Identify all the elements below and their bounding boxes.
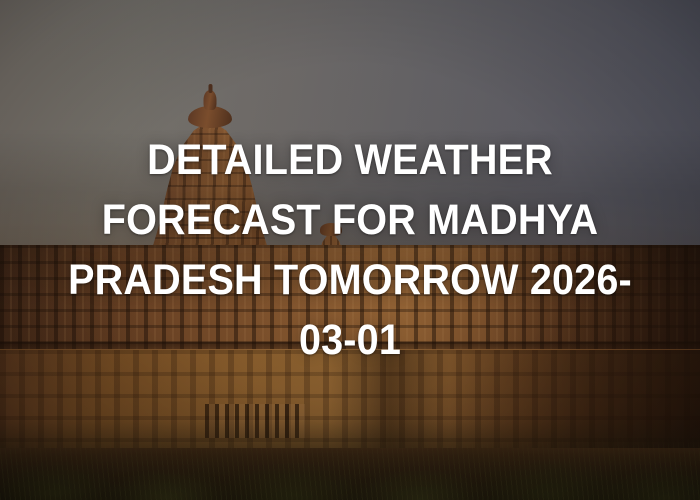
spire-finial <box>320 223 342 236</box>
foreground-grass <box>0 434 700 500</box>
temple-wall-shadow <box>490 245 700 350</box>
shikhara-finial <box>188 106 232 128</box>
weather-forecast-hero-banner: Detailed Weather Forecast for Madhya Pra… <box>0 0 700 500</box>
kalasha-pot <box>204 90 217 110</box>
